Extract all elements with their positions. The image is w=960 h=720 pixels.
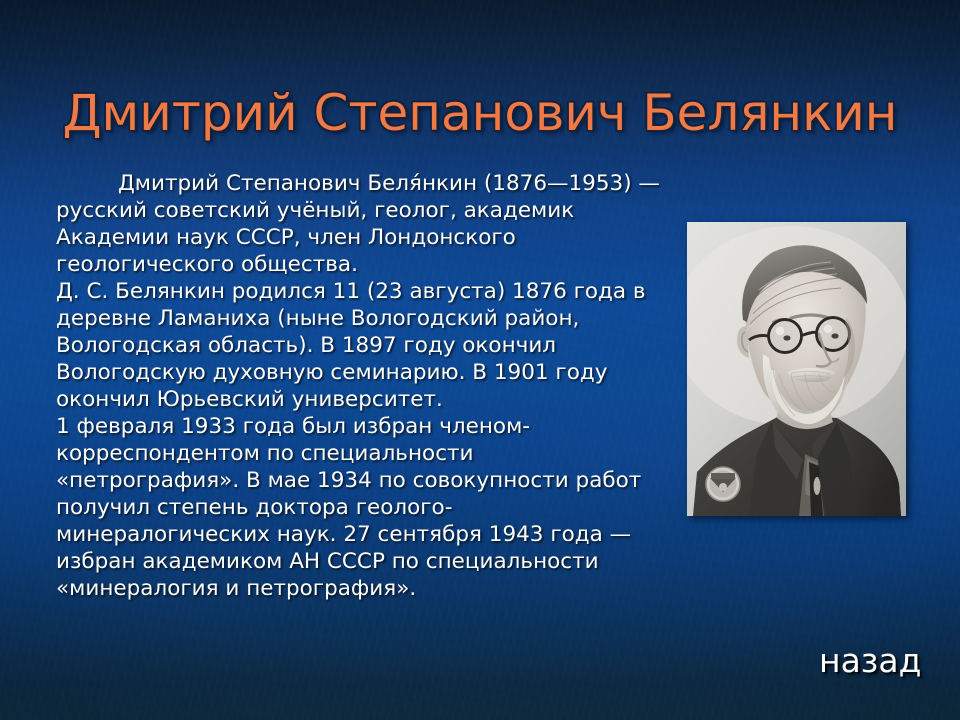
back-link[interactable]: назад — [819, 642, 921, 680]
body-paragraph-1: Дмитрий Степанович Беля́нкин (1876—1953)… — [56, 170, 662, 278]
portrait-photo — [687, 222, 906, 516]
presentation-slide: Дмитрий Степанович Белянкин Дмитрий Степ… — [0, 0, 960, 720]
page-title: Дмитрий Степанович Белянкин — [0, 84, 960, 142]
portrait-photo-image — [687, 222, 906, 516]
body-paragraph-2: Д. С. Белянкин родился 11 (23 августа) 1… — [56, 278, 662, 413]
slide-body-text: Дмитрий Степанович Беля́нкин (1876—1953)… — [56, 170, 662, 602]
body-paragraph-3: 1 февраля 1933 года был избран членом-ко… — [56, 413, 662, 602]
